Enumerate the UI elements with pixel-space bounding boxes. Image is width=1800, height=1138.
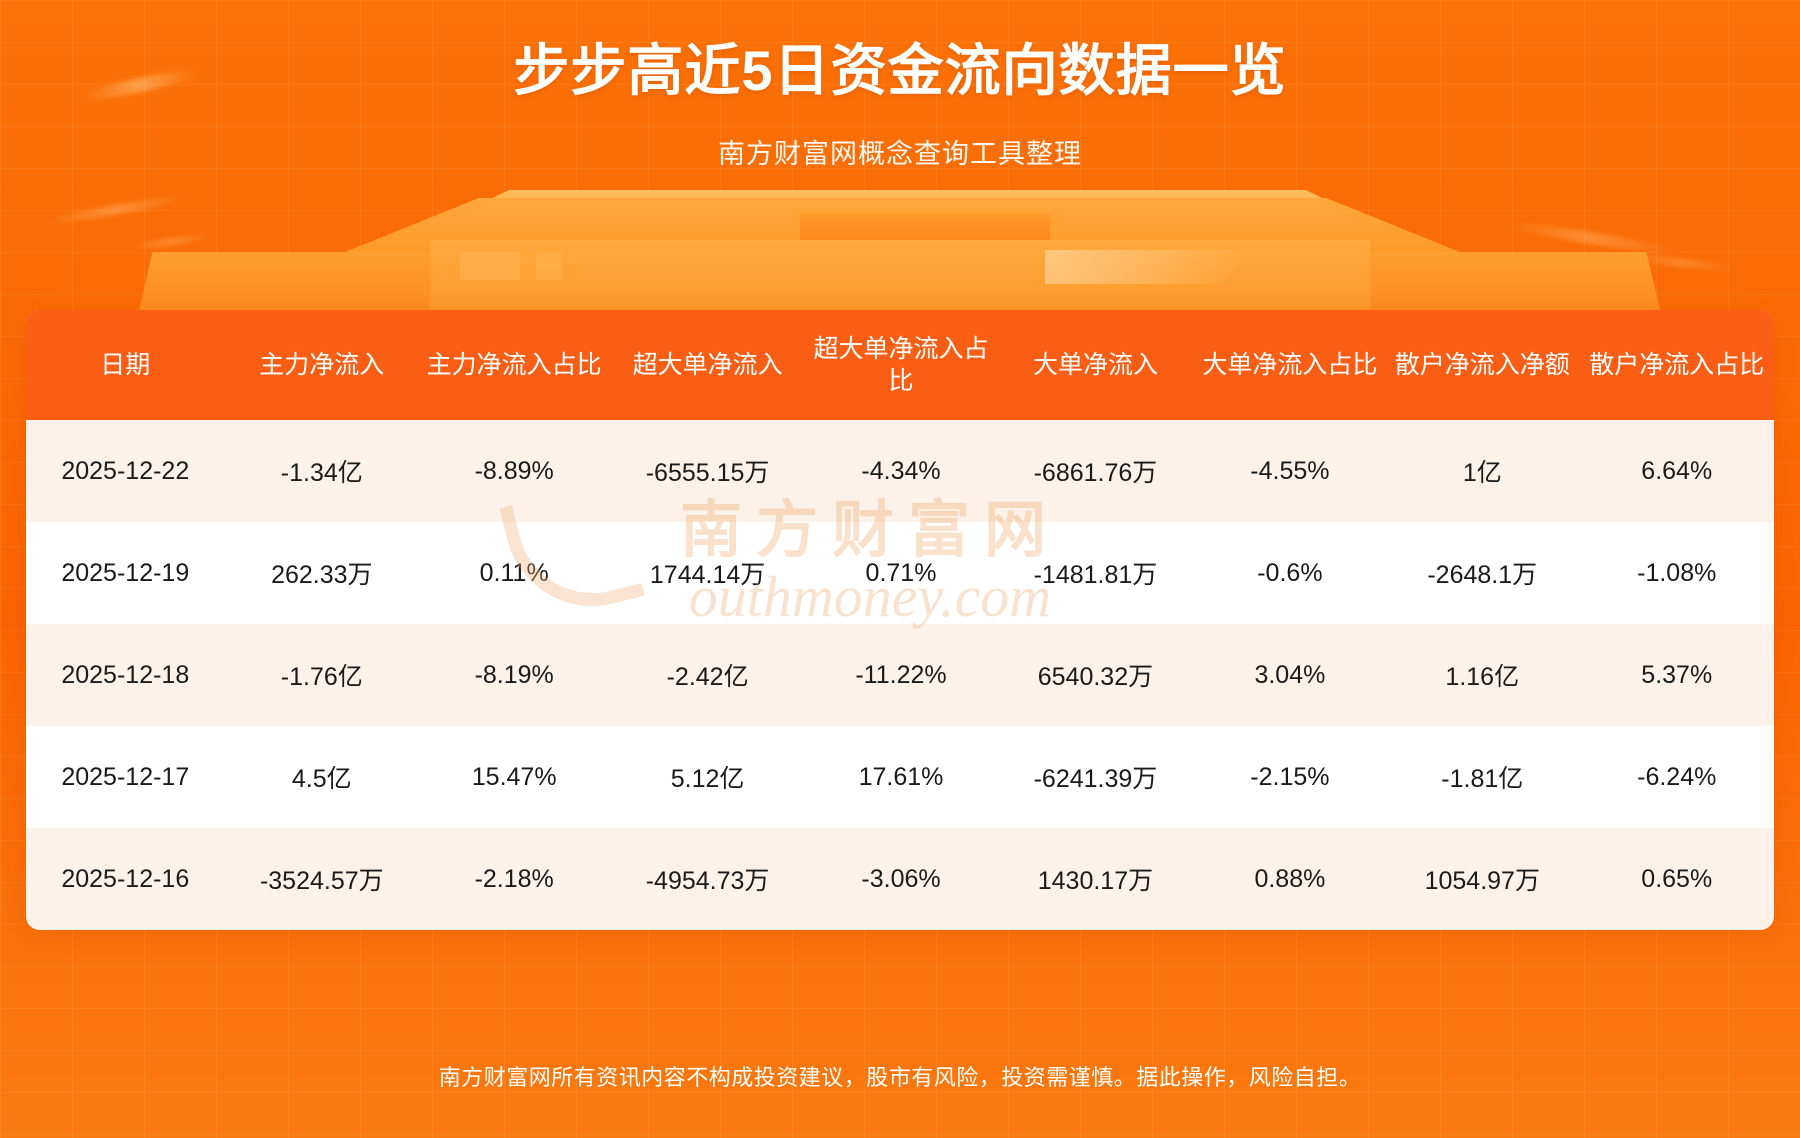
cell-retail-net-inflow-pct: 5.37%: [1579, 624, 1774, 726]
cell-large-net-inflow-pct: 0.88%: [1195, 828, 1385, 930]
cell-main-net-inflow: 4.5亿: [225, 726, 419, 828]
cell-date: 2025-12-17: [26, 726, 225, 828]
data-table-card: 日期 主力净流入 主力净流入占比 超大单净流入 超大单净流入占比 大单净流入 大…: [26, 310, 1774, 930]
cell-main-net-inflow-pct: 0.11%: [419, 522, 609, 624]
cell-main-net-inflow: 262.33万: [225, 522, 419, 624]
cell-large-net-inflow-pct: -4.55%: [1195, 420, 1385, 522]
cell-large-net-inflow: -6241.39万: [996, 726, 1195, 828]
cell-retail-net-inflow-pct: 6.64%: [1579, 420, 1774, 522]
cell-super-large-net-inflow: -4954.73万: [609, 828, 806, 930]
cell-super-large-net-inflow-pct: 0.71%: [806, 522, 996, 624]
fund-flow-table: 日期 主力净流入 主力净流入占比 超大单净流入 超大单净流入占比 大单净流入 大…: [26, 310, 1774, 930]
cell-large-net-inflow: -1481.81万: [996, 522, 1195, 624]
cell-date: 2025-12-19: [26, 522, 225, 624]
podium-block: [536, 252, 562, 280]
table-row: 2025-12-16 -3524.57万 -2.18% -4954.73万 -3…: [26, 828, 1774, 930]
column-header-main-net-inflow: 主力净流入: [225, 310, 419, 420]
table-body: 2025-12-22 -1.34亿 -8.89% -6555.15万 -4.34…: [26, 420, 1774, 930]
column-header-large-net-inflow-pct: 大单净流入占比: [1195, 310, 1385, 420]
table-row: 2025-12-19 262.33万 0.11% 1744.14万 0.71% …: [26, 522, 1774, 624]
cell-large-net-inflow: 1430.17万: [996, 828, 1195, 930]
column-header-retail-net-inflow-pct: 散户净流入占比: [1579, 310, 1774, 420]
cell-date: 2025-12-22: [26, 420, 225, 522]
table-row: 2025-12-22 -1.34亿 -8.89% -6555.15万 -4.34…: [26, 420, 1774, 522]
cell-super-large-net-inflow: -6555.15万: [609, 420, 806, 522]
cell-main-net-inflow-pct: -8.19%: [419, 624, 609, 726]
cell-date: 2025-12-16: [26, 828, 225, 930]
cell-main-net-inflow: -3524.57万: [225, 828, 419, 930]
cell-large-net-inflow: -6861.76万: [996, 420, 1195, 522]
podium-block: [460, 252, 520, 280]
cell-retail-net-inflow: 1亿: [1385, 420, 1579, 522]
header-block: 步步高近5日资金流向数据一览 南方财富网概念查询工具整理: [0, 0, 1800, 171]
cell-super-large-net-inflow-pct: -4.34%: [806, 420, 996, 522]
cell-large-net-inflow-pct: -0.6%: [1195, 522, 1385, 624]
cell-super-large-net-inflow: 1744.14万: [609, 522, 806, 624]
page-subtitle: 南方财富网概念查询工具整理: [0, 132, 1800, 171]
cell-retail-net-inflow: 1054.97万: [1385, 828, 1579, 930]
podium-highlight: [1045, 250, 1250, 284]
cell-main-net-inflow-pct: 15.47%: [419, 726, 609, 828]
page-title: 步步高近5日资金流向数据一览: [0, 36, 1800, 106]
cell-date: 2025-12-18: [26, 624, 225, 726]
cell-retail-net-inflow: -2648.1万: [1385, 522, 1579, 624]
footer-disclaimer: 南方财富网所有资讯内容不构成投资建议，股市有风险，投资需谨慎。据此操作，风险自担…: [0, 1060, 1800, 1092]
cell-super-large-net-inflow-pct: -11.22%: [806, 624, 996, 726]
column-header-large-net-inflow: 大单净流入: [996, 310, 1195, 420]
column-header-retail-net-inflow: 散户净流入净额: [1385, 310, 1579, 420]
cell-main-net-inflow: -1.76亿: [225, 624, 419, 726]
column-header-date: 日期: [26, 310, 225, 420]
table-row: 2025-12-18 -1.76亿 -8.19% -2.42亿 -11.22% …: [26, 624, 1774, 726]
cell-super-large-net-inflow: -2.42亿: [609, 624, 806, 726]
cell-large-net-inflow-pct: -2.15%: [1195, 726, 1385, 828]
cell-main-net-inflow: -1.34亿: [225, 420, 419, 522]
cell-main-net-inflow-pct: -2.18%: [419, 828, 609, 930]
cell-main-net-inflow-pct: -8.89%: [419, 420, 609, 522]
cell-large-net-inflow: 6540.32万: [996, 624, 1195, 726]
table-header: 日期 主力净流入 主力净流入占比 超大单净流入 超大单净流入占比 大单净流入 大…: [26, 310, 1774, 420]
cell-large-net-inflow-pct: 3.04%: [1195, 624, 1385, 726]
column-header-super-large-net-inflow-pct: 超大单净流入占比: [806, 310, 996, 420]
cell-retail-net-inflow-pct: 0.65%: [1579, 828, 1774, 930]
cell-retail-net-inflow-pct: -1.08%: [1579, 522, 1774, 624]
cell-super-large-net-inflow-pct: -3.06%: [806, 828, 996, 930]
cell-retail-net-inflow: 1.16亿: [1385, 624, 1579, 726]
cell-super-large-net-inflow-pct: 17.61%: [806, 726, 996, 828]
table-header-row: 日期 主力净流入 主力净流入占比 超大单净流入 超大单净流入占比 大单净流入 大…: [26, 310, 1774, 420]
cell-retail-net-inflow: -1.81亿: [1385, 726, 1579, 828]
cell-super-large-net-inflow: 5.12亿: [609, 726, 806, 828]
column-header-main-net-inflow-pct: 主力净流入占比: [419, 310, 609, 420]
cell-retail-net-inflow-pct: -6.24%: [1579, 726, 1774, 828]
column-header-super-large-net-inflow: 超大单净流入: [609, 310, 806, 420]
table-row: 2025-12-17 4.5亿 15.47% 5.12亿 17.61% -624…: [26, 726, 1774, 828]
